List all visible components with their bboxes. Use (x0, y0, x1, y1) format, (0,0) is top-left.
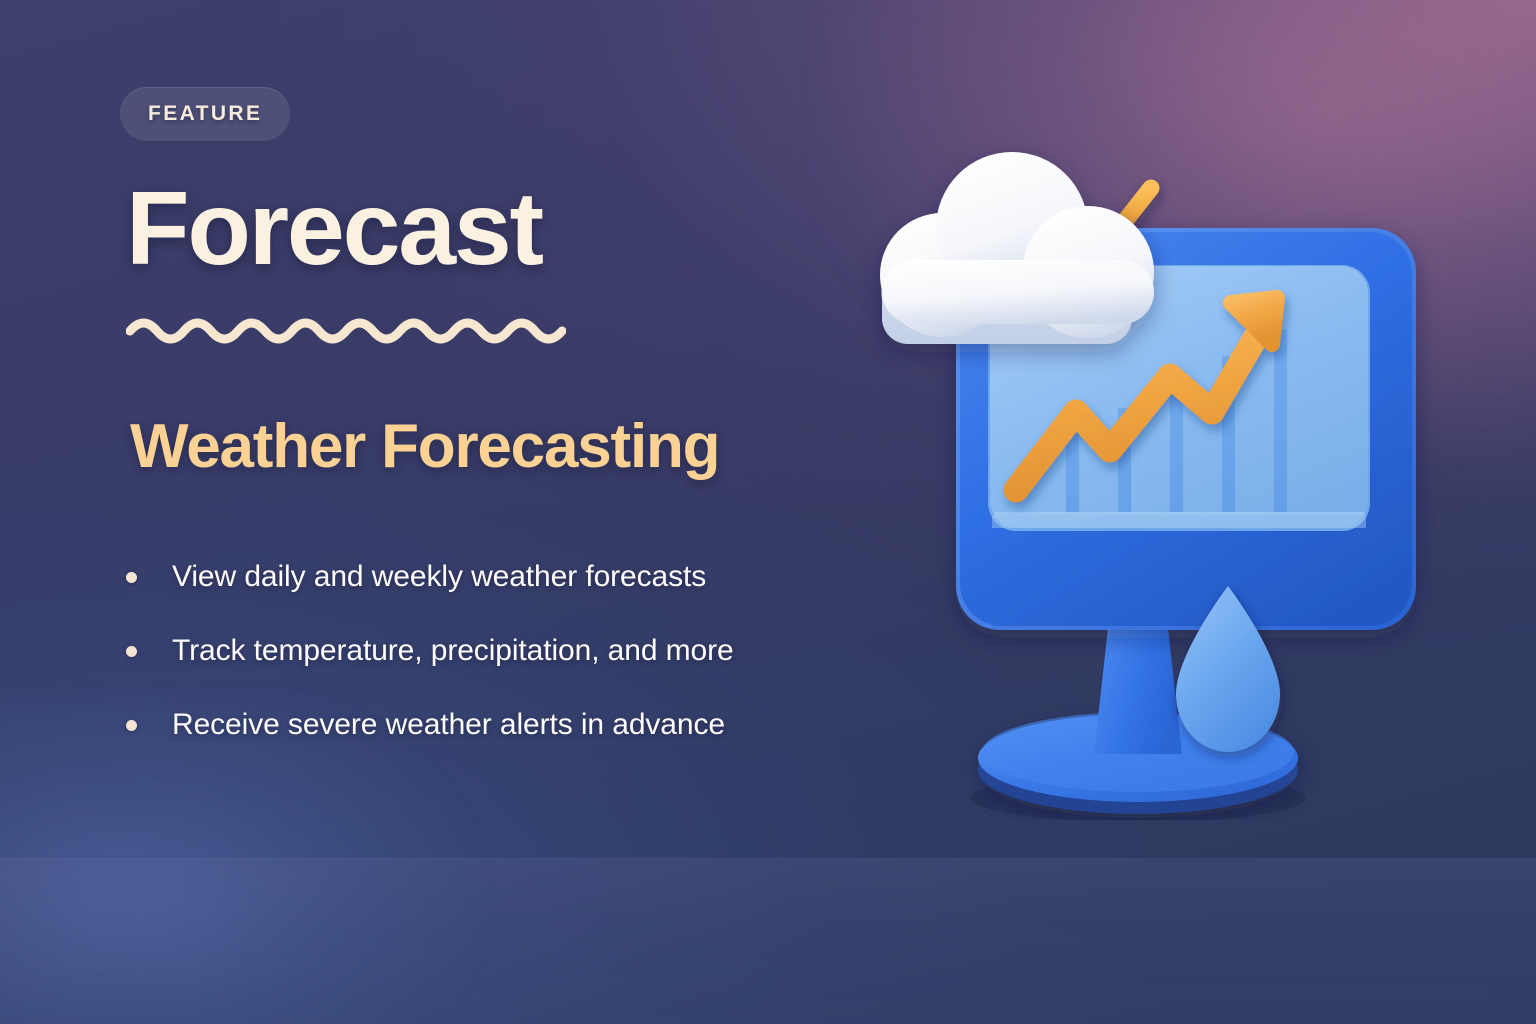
feature-badge: FEATURE (120, 87, 290, 141)
monitor-neck (1094, 628, 1182, 754)
bullet-dot-icon (126, 720, 137, 731)
background-floor-plane (0, 858, 1536, 1024)
cloud-icon (880, 152, 1154, 344)
feature-card: FEATURE Forecast Weather Forecasting Vie… (0, 0, 1536, 1024)
chart-floor (992, 515, 1366, 528)
page-title: Forecast (126, 177, 542, 281)
chart-baseline (994, 512, 1364, 515)
list-item-label: View daily and weekly weather forecasts (172, 560, 706, 594)
section-subtitle: Weather Forecasting (130, 411, 719, 482)
bullet-dot-icon (126, 646, 137, 657)
weather-forecast-illustration (820, 60, 1460, 820)
feature-badge-label: FEATURE (148, 102, 262, 126)
wavy-underline-icon (126, 305, 566, 353)
bullet-dot-icon (126, 572, 137, 583)
list-item-label: Receive severe weather alerts in advance (172, 708, 725, 742)
list-item-label: Track temperature, precipitation, and mo… (172, 634, 734, 668)
